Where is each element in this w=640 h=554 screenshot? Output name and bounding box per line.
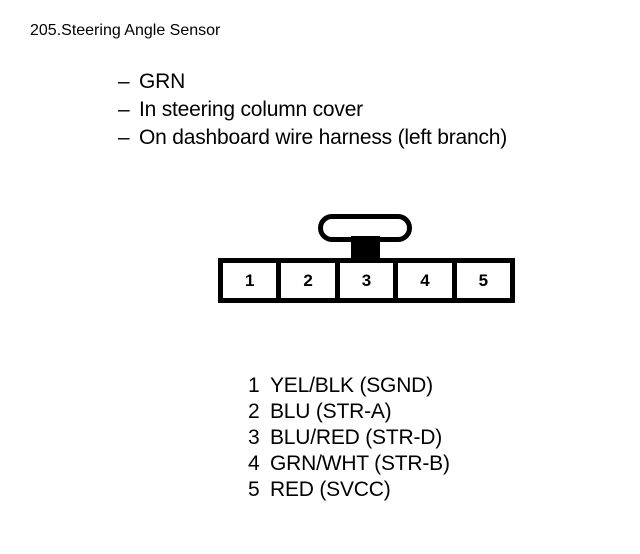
note-text: On dashboard wire harness (left branch) — [139, 124, 507, 152]
legend-pin-number: 3 — [248, 425, 270, 451]
page-title: Steering Angle Sensor — [61, 22, 220, 40]
connector-pin-cell: 2 — [281, 263, 339, 298]
connector-body: 1 2 3 4 5 — [218, 258, 515, 303]
legend-row: 3 BLU/RED (STR-D) — [248, 425, 578, 451]
list-item: – On dashboard wire harness (left branch… — [118, 124, 628, 152]
legend-row: 2 BLU (STR-A) — [248, 399, 578, 425]
legend-row: 4 GRN/WHT (STR-B) — [248, 451, 578, 477]
note-text: GRN — [139, 68, 185, 96]
note-text: In steering column cover — [139, 96, 363, 124]
list-item: – In steering column cover — [118, 96, 628, 124]
legend-wire-label: GRN/WHT (STR-B) — [270, 451, 450, 477]
legend-pin-number: 5 — [248, 477, 270, 503]
legend-pin-number: 4 — [248, 451, 270, 477]
legend-wire-label: RED (SVCC) — [270, 477, 391, 503]
list-item: – GRN — [118, 68, 628, 96]
legend-wire-label: YEL/BLK (SGND) — [270, 373, 433, 399]
pin-legend: 1 YEL/BLK (SGND) 2 BLU (STR-A) 3 BLU/RED… — [248, 373, 578, 503]
connector-pin-cell: 4 — [398, 263, 456, 298]
connector-pin-cell: 1 — [223, 263, 281, 298]
page-header: 205. Steering Angle Sensor — [30, 22, 630, 40]
legend-row: 5 RED (SVCC) — [248, 477, 578, 503]
legend-row: 1 YEL/BLK (SGND) — [248, 373, 578, 399]
entry-number: 205. — [30, 22, 61, 40]
legend-wire-label: BLU (STR-A) — [270, 399, 391, 425]
dash-bullet-icon: – — [118, 68, 139, 96]
dash-bullet-icon: – — [118, 124, 139, 152]
legend-wire-label: BLU/RED (STR-D) — [270, 425, 442, 451]
legend-pin-number: 1 — [248, 373, 270, 399]
notes-list: – GRN – In steering column cover – On da… — [118, 68, 628, 152]
connector-diagram: 1 2 3 4 5 — [215, 212, 515, 307]
connector-pin-cell: 3 — [340, 263, 398, 298]
legend-pin-number: 2 — [248, 399, 270, 425]
dash-bullet-icon: – — [118, 96, 139, 124]
connector-pin-cell: 5 — [457, 263, 510, 298]
